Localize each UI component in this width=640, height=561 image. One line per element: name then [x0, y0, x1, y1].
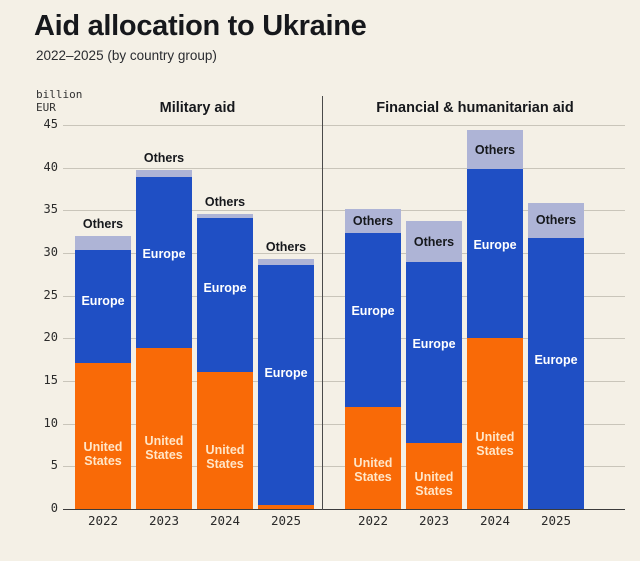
bar-segment-others[interactable]: [197, 214, 253, 218]
bar-segment-label: Europe: [528, 353, 584, 367]
bar-segment-others[interactable]: [75, 236, 131, 250]
bar-segment-europe[interactable]: [197, 218, 253, 372]
bar-segment-label: Europe: [406, 337, 462, 351]
x-axis-tick-label: 2024: [467, 513, 523, 528]
bar-segment-europe[interactable]: [406, 262, 462, 443]
x-axis-tick-label: 2022: [345, 513, 401, 528]
bar-segment-label: Others: [136, 151, 192, 165]
plot-area: 051015202530354045UnitedStatesEuropeOthe…: [0, 0, 640, 561]
x-axis-tick-label: 2024: [197, 513, 253, 528]
panel-divider: [322, 96, 323, 510]
bar-segment-label: Europe: [345, 304, 401, 318]
y-axis-tick-label: 25: [18, 288, 58, 302]
bar-segment-europe[interactable]: [258, 265, 314, 505]
bar-stack[interactable]: UnitedStatesEuropeOthers: [345, 0, 401, 561]
y-axis-tick-label: 20: [18, 330, 58, 344]
bar-segment-europe[interactable]: [467, 169, 523, 338]
x-axis-tick-label: 2022: [75, 513, 131, 528]
y-axis-tick-label: 5: [18, 458, 58, 472]
bar-stack[interactable]: UnitedStatesEuropeOthers: [75, 0, 131, 561]
bar-segment-europe[interactable]: [136, 177, 192, 348]
bar-segment-label: Others: [258, 240, 314, 254]
bar-segment-label: Others: [406, 235, 462, 249]
bar-stack[interactable]: UnitedStatesEuropeOthers: [406, 0, 462, 561]
y-axis-tick-label: 40: [18, 160, 58, 174]
bar-segment-united-states[interactable]: [197, 372, 253, 509]
x-axis-tick-label: 2025: [258, 513, 314, 528]
bar-segment-label: UnitedStates: [75, 440, 131, 468]
x-axis-tick-label: 2025: [528, 513, 584, 528]
bar-segment-united-states[interactable]: [467, 338, 523, 509]
panel-title-military: Military aid: [75, 100, 320, 116]
bar-segment-label: Others: [197, 195, 253, 209]
chart-page: Aid allocation to Ukraine 2022–2025 (by …: [0, 0, 640, 561]
bar-segment-label: UnitedStates: [467, 430, 523, 458]
x-axis-tick-label: 2023: [406, 513, 462, 528]
bar-segment-label: UnitedStates: [136, 434, 192, 462]
bar-segment-europe[interactable]: [345, 233, 401, 406]
bar-segment-label: Others: [467, 143, 523, 157]
y-axis-tick-label: 35: [18, 202, 58, 216]
bar-segment-label: Europe: [197, 281, 253, 295]
bar-stack[interactable]: UnitedStatesEuropeOthers: [197, 0, 253, 561]
bar-segment-label: Europe: [467, 238, 523, 252]
bar-segment-label: Europe: [136, 247, 192, 261]
bar-segment-united-states[interactable]: [136, 348, 192, 509]
panel-title-financial: Financial & humanitarian aid: [330, 100, 620, 116]
bar-segment-europe[interactable]: [528, 238, 584, 509]
bar-segment-label: UnitedStates: [406, 470, 462, 498]
y-axis-tick-label: 15: [18, 373, 58, 387]
bar-stack[interactable]: UnitedStatesEuropeOthers: [467, 0, 523, 561]
bar-segment-united-states[interactable]: [258, 505, 314, 509]
bar-segment-label: Europe: [75, 294, 131, 308]
bar-segment-label: Others: [528, 213, 584, 227]
y-axis-tick-label: 10: [18, 416, 58, 430]
bar-segment-others[interactable]: [258, 259, 314, 265]
y-axis-tick-label: 0: [18, 501, 58, 515]
y-axis-tick-label: 30: [18, 245, 58, 259]
x-axis-tick-label: 2023: [136, 513, 192, 528]
bar-segment-label: UnitedStates: [345, 456, 401, 484]
bar-segment-label: UnitedStates: [197, 443, 253, 471]
y-axis-tick-label: 45: [18, 117, 58, 131]
bar-segment-label: Europe: [258, 366, 314, 380]
bar-segment-united-states[interactable]: [75, 363, 131, 509]
bar-stack[interactable]: EuropeOthers: [258, 0, 314, 561]
bar-stack[interactable]: UnitedStatesEuropeOthers: [136, 0, 192, 561]
bar-segment-others[interactable]: [136, 170, 192, 177]
bar-segment-label: Others: [75, 217, 131, 231]
bar-segment-label: Others: [345, 214, 401, 228]
bar-stack[interactable]: EuropeOthers: [528, 0, 584, 561]
